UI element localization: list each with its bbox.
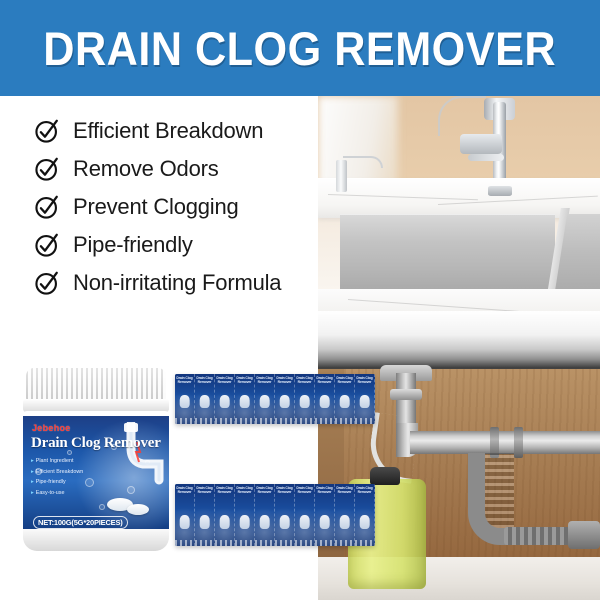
jar-net-weight: NET:100G(5G*20PIECES) bbox=[33, 516, 128, 529]
tablet-graphic bbox=[299, 395, 310, 408]
marble-vein bbox=[348, 299, 548, 311]
sachet-packet: Drain Clog Remover bbox=[175, 484, 195, 546]
sachet-packet-last: Drain Clog Remover bbox=[355, 374, 375, 424]
sachet-label: Drain Clog Remover bbox=[356, 376, 373, 385]
jar-bullet: Easy-to-use bbox=[31, 488, 109, 499]
marble-vein bbox=[328, 194, 478, 200]
tablet-graphic bbox=[219, 395, 230, 408]
feature-label: Prevent Clogging bbox=[73, 194, 239, 220]
sachet-label: Drain Clog Remover bbox=[176, 376, 193, 385]
sachet-label: Drain Clog Remover bbox=[276, 376, 293, 385]
jar-label: Jebehoe Drain Clog Remover Plant Ingredi… bbox=[23, 416, 169, 534]
sachet-packet: Drain Clog Remover bbox=[335, 484, 355, 546]
tablet-graphic bbox=[219, 515, 230, 529]
sachet-packet: Drain Clog Remover bbox=[295, 374, 315, 424]
header-banner: DRAIN CLOG REMOVER bbox=[0, 0, 600, 96]
cabinet-underside bbox=[318, 311, 600, 373]
feature-list: Efficient Breakdown Remove Odors Prevent… bbox=[34, 112, 334, 302]
feature-item: Non-irritating Formula bbox=[34, 264, 334, 302]
sachet-packet: Drain Clog Remover bbox=[195, 374, 215, 424]
sachet-label: Drain Clog Remover bbox=[276, 486, 293, 495]
jar-bullet: Pipe-friendly bbox=[31, 477, 109, 488]
sachet-label: Drain Clog Remover bbox=[256, 486, 273, 495]
tablet-graphic bbox=[359, 395, 370, 408]
check-circle-icon bbox=[34, 156, 60, 182]
faucet-base bbox=[488, 186, 512, 196]
sachet-packet: Drain Clog Remover bbox=[235, 374, 255, 424]
pipe-illustration bbox=[109, 422, 165, 494]
sachet-packet: Drain Clog Remover bbox=[315, 374, 335, 424]
feature-item: Efficient Breakdown bbox=[34, 112, 334, 150]
sink-photo bbox=[318, 96, 600, 311]
check-circle-icon bbox=[34, 270, 60, 296]
tablet-graphic bbox=[199, 395, 210, 408]
faucet-sprayer bbox=[460, 134, 502, 154]
sachet-packet: Drain Clog Remover bbox=[315, 484, 335, 546]
sachet-label: Drain Clog Remover bbox=[356, 486, 373, 495]
tablet-graphic bbox=[279, 395, 290, 408]
sachet-packet: Drain Clog Remover bbox=[255, 484, 275, 546]
jar-base bbox=[23, 529, 169, 551]
tablet-graphic bbox=[239, 395, 250, 408]
soap-dispenser-spout bbox=[343, 156, 383, 168]
sink-countertop bbox=[318, 178, 600, 218]
jar-bullet-list: Plant Ingredient Efficient Breakdown Pip… bbox=[31, 456, 109, 498]
drain-pipe-horizontal bbox=[410, 431, 600, 454]
tablet-graphic bbox=[279, 515, 290, 529]
tablet-graphic bbox=[259, 515, 270, 529]
sachet-label: Drain Clog Remover bbox=[256, 376, 273, 385]
tablet-graphic bbox=[179, 395, 190, 408]
tablet-graphic bbox=[199, 515, 210, 529]
check-circle-icon bbox=[34, 194, 60, 220]
sachet-strip-bottom: Drain Clog Remover Drain Clog Remover Dr… bbox=[175, 484, 375, 546]
hose-coupler bbox=[568, 521, 600, 549]
jar-body: Jebehoe Drain Clog Remover Plant Ingredi… bbox=[23, 411, 169, 551]
feature-label: Remove Odors bbox=[73, 156, 219, 182]
sachet-label: Drain Clog Remover bbox=[196, 486, 213, 495]
pipe-clamp bbox=[514, 427, 523, 458]
check-circle-icon bbox=[34, 118, 60, 144]
sachet-packet: Drain Clog Remover bbox=[175, 374, 195, 424]
sachet-label: Drain Clog Remover bbox=[316, 486, 333, 495]
sachet-packet: Drain Clog Remover bbox=[255, 374, 275, 424]
pipe-collar bbox=[390, 389, 422, 400]
soap-dispenser bbox=[336, 160, 347, 192]
tablet-graphic bbox=[299, 515, 310, 529]
sachet-packet: Drain Clog Remover bbox=[335, 374, 355, 424]
faucet-lever bbox=[468, 154, 504, 161]
jar-lid bbox=[26, 368, 166, 402]
tablet-graphic bbox=[179, 515, 190, 529]
sachet-label: Drain Clog Remover bbox=[176, 486, 193, 495]
tablet-graphic bbox=[319, 515, 330, 529]
tablet-graphic bbox=[339, 515, 350, 529]
feature-label: Pipe-friendly bbox=[73, 232, 193, 258]
tablet-graphic bbox=[239, 515, 250, 529]
sachet-packet-last: Drain Clog Remover bbox=[355, 484, 375, 546]
faucet-hose bbox=[438, 96, 486, 136]
bottle-cap bbox=[370, 467, 400, 485]
jar-brand-name: Jebehoe bbox=[32, 423, 71, 433]
sachet-packet: Drain Clog Remover bbox=[275, 484, 295, 546]
effervescent-tablet bbox=[127, 504, 149, 515]
under-sink-photo bbox=[318, 311, 600, 600]
sink-basin-main bbox=[340, 214, 555, 292]
sachet-label: Drain Clog Remover bbox=[296, 376, 313, 385]
feature-label: Efficient Breakdown bbox=[73, 118, 263, 144]
sachet-strip-top: Drain Clog Remover Drain Clog Remover Dr… bbox=[175, 374, 375, 424]
sachet-packet: Drain Clog Remover bbox=[275, 374, 295, 424]
feature-item: Pipe-friendly bbox=[34, 226, 334, 264]
product-jar: Jebehoe Drain Clog Remover Plant Ingredi… bbox=[20, 368, 172, 558]
sachet-label: Drain Clog Remover bbox=[216, 376, 233, 385]
jar-bullet: Efficient Breakdown bbox=[31, 467, 109, 478]
strip-perforation-bottom bbox=[175, 418, 375, 424]
sachet-label: Drain Clog Remover bbox=[336, 376, 353, 385]
sachet-label: Drain Clog Remover bbox=[296, 486, 313, 495]
strip-perforation-bottom bbox=[175, 540, 375, 546]
sachet-packet: Drain Clog Remover bbox=[235, 484, 255, 546]
tablet-graphic bbox=[339, 395, 350, 408]
sachet-label: Drain Clog Remover bbox=[316, 376, 333, 385]
sachet-label: Drain Clog Remover bbox=[196, 376, 213, 385]
feature-item: Prevent Clogging bbox=[34, 188, 334, 226]
sachet-label: Drain Clog Remover bbox=[336, 486, 353, 495]
page-title: DRAIN CLOG REMOVER bbox=[44, 25, 557, 72]
feature-item: Remove Odors bbox=[34, 150, 334, 188]
sachet-packet: Drain Clog Remover bbox=[215, 484, 235, 546]
sachet-packet: Drain Clog Remover bbox=[195, 484, 215, 546]
sachet-packet: Drain Clog Remover bbox=[295, 484, 315, 546]
tablet-graphic bbox=[259, 395, 270, 408]
jar-bullet: Plant Ingredient bbox=[31, 456, 109, 467]
sachet-label: Drain Clog Remover bbox=[216, 486, 233, 495]
tablet-graphic bbox=[359, 515, 370, 529]
sink-front-counter bbox=[318, 289, 600, 311]
sachet-label: Drain Clog Remover bbox=[236, 486, 253, 495]
jar-product-title: Drain Clog Remover bbox=[31, 435, 161, 452]
check-circle-icon bbox=[34, 232, 60, 258]
sachet-label: Drain Clog Remover bbox=[236, 376, 253, 385]
tablet-graphic bbox=[319, 395, 330, 408]
feature-label: Non-irritating Formula bbox=[73, 270, 281, 296]
advertisement-poster: DRAIN CLOG REMOVER bbox=[0, 0, 600, 600]
sachet-packet: Drain Clog Remover bbox=[215, 374, 235, 424]
marble-vein bbox=[438, 196, 598, 205]
